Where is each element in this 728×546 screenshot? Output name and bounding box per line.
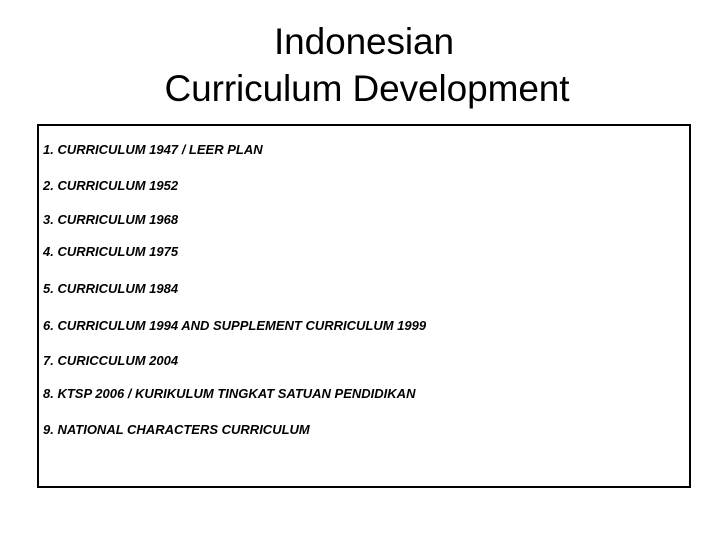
content-box: 1. CURRICULUM 1947 / LEER PLAN 2. CURRIC… [37, 124, 691, 488]
list-item: 1. CURRICULUM 1947 / LEER PLAN [43, 142, 683, 157]
presentation-slide: Indonesian Curriculum Development 1. CUR… [0, 0, 728, 546]
list-item: 6. CURRICULUM 1994 AND SUPPLEMENT CURRIC… [43, 318, 683, 333]
list-item: 2. CURRICULUM 1952 [43, 178, 683, 193]
list-item: 3. CURRICULUM 1968 [43, 212, 683, 227]
page-title-line-2: Curriculum Development [6, 65, 728, 112]
page-title-line-1: Indonesian [0, 18, 728, 65]
list-item: 7. CURICCULUM 2004 [43, 353, 683, 368]
list-item: 8. KTSP 2006 / KURIKULUM TINGKAT SATUAN … [43, 386, 683, 401]
curriculum-list: 1. CURRICULUM 1947 / LEER PLAN 2. CURRIC… [39, 126, 689, 486]
page-title: Indonesian Curriculum Development [0, 18, 728, 113]
list-item: 4. CURRICULUM 1975 [43, 244, 683, 259]
list-item: 5. CURRICULUM 1984 [43, 281, 683, 296]
list-item: 9. NATIONAL CHARACTERS CURRICULUM [43, 422, 683, 437]
